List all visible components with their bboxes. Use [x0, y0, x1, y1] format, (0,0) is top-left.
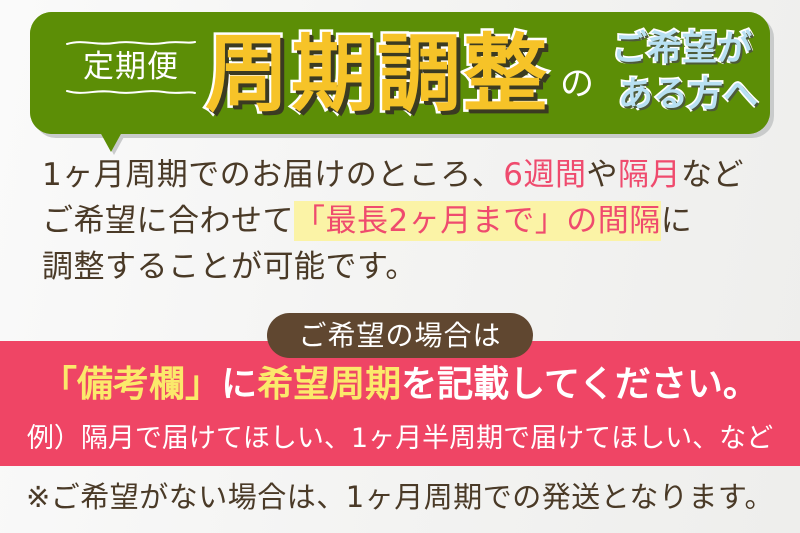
instruction-desired-cycle: 希望周期 — [257, 364, 401, 405]
body-line1-part-a: 1ヶ月周期でのお届けのところ、 — [42, 157, 503, 193]
subscription-badge-label: 定期便 — [66, 47, 196, 87]
instruction-part-b: に — [221, 364, 257, 405]
default-cycle-note: ※ご希望がない場合は、1ヶ月周期での発送となります。 — [0, 476, 800, 518]
bubble-tail — [100, 132, 122, 152]
body-line2-part-a: ご希望に合わせて — [42, 203, 294, 239]
body-line2-highlight-max2months: 「最長2ヶ月まで」の間隔 — [294, 201, 661, 241]
body-line-3: 調整することが可能です。 — [42, 244, 772, 290]
body-line1-highlight-bimonthly: 隔月 — [618, 157, 681, 193]
wavy-rule-bottom-icon — [66, 87, 196, 96]
instruction-examples: 例）隔月で届けてほしい、1ヶ月半周期で届けてほしい、など — [0, 420, 800, 458]
body-paragraph: 1ヶ月周期でのお届けのところ、6週間や隔月など ご希望に合わせて「最長2ヶ月まで… — [42, 152, 772, 290]
header-title-particle: の — [560, 64, 594, 104]
promo-banner: 定期便 周期調整 の ご希望が ある方へ 1ヶ月周期でのお届けのところ、6週間や… — [0, 0, 800, 533]
instruction-field-name: 「備考欄」 — [41, 364, 221, 405]
body-line-1: 1ヶ月周期でのお届けのところ、6週間や隔月など — [42, 152, 772, 198]
header-title: 周期調整 — [205, 20, 549, 128]
body-line-2: ご希望に合わせて「最長2ヶ月まで」の間隔に — [42, 198, 772, 244]
request-case-pill: ご希望の場合は — [267, 313, 533, 358]
subscription-badge: 定期便 — [66, 38, 196, 96]
instruction-part-d: を記載してください。 — [401, 364, 759, 405]
header-section: 定期便 周期調整 の ご希望が ある方へ — [0, 0, 800, 150]
body-line2-part-c: に — [661, 203, 693, 239]
instruction-headline: 「備考欄」に希望周期を記載してください。 — [0, 360, 800, 410]
body-line1-part-e: など — [681, 157, 744, 193]
body-line1-part-c: や — [586, 157, 618, 193]
wavy-rule-top-icon — [66, 38, 196, 47]
body-line1-highlight-6weeks: 6週間 — [503, 157, 586, 193]
header-subtitle-line1: ご希望が — [612, 26, 784, 72]
header-subtitle-line2: ある方へ — [612, 72, 784, 118]
header-subtitle: ご希望が ある方へ — [612, 26, 784, 118]
